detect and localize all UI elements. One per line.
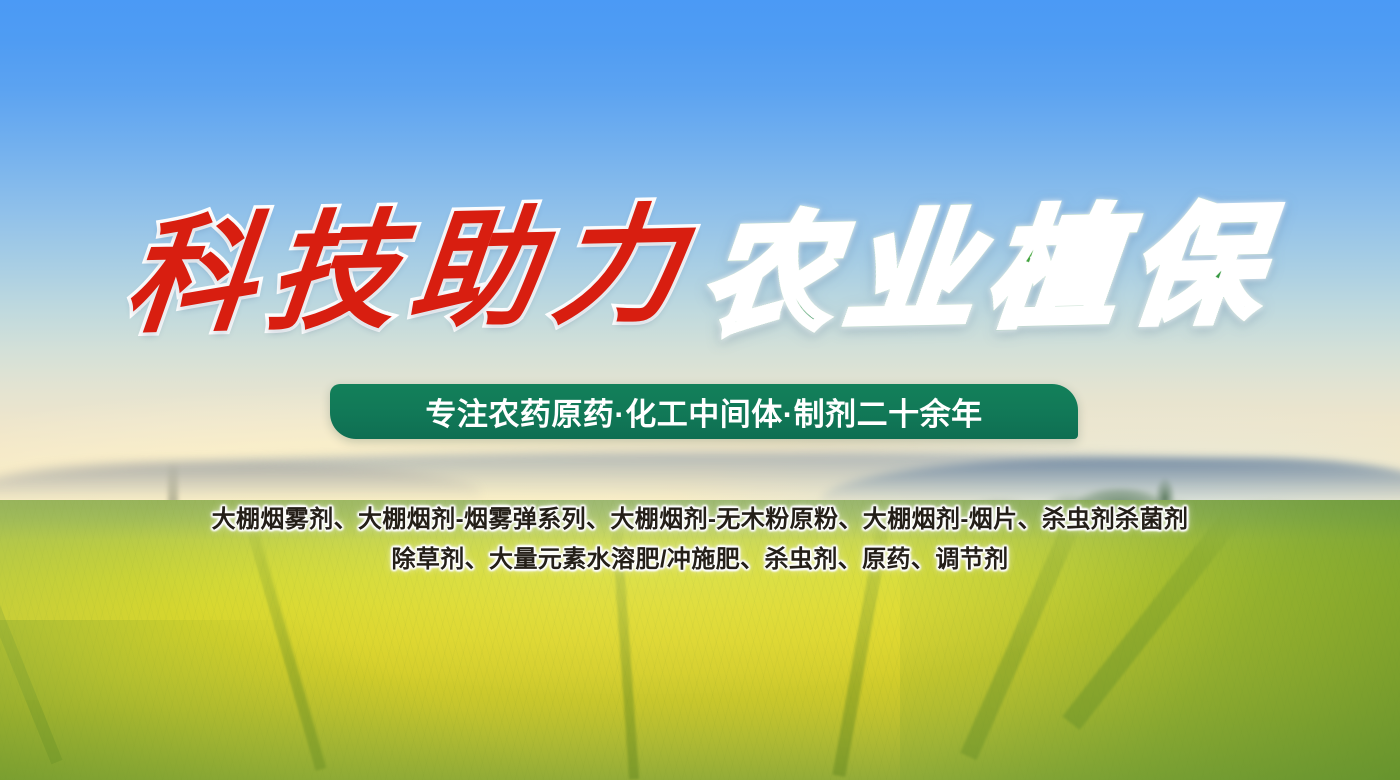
product-list: 大棚烟雾剂、大棚烟剂-烟雾弹系列、大棚烟剂-无木粉原粉、大棚烟剂-烟片、杀虫剂杀… (0, 500, 1400, 580)
banner-headline: 科技助力农业植保 (0, 196, 1400, 346)
hero-banner: 科技助力农业植保 专注农药原药·化工中间体·制剂二十余年 大棚烟雾剂、大棚烟剂-… (0, 0, 1400, 780)
headline-part-technology: 科技助力 (119, 190, 704, 352)
product-line-2: 除草剂、大量元素水溶肥/冲施肥、杀虫剂、原药、调节剂 (0, 540, 1400, 580)
poplar-tree-icon (168, 462, 178, 504)
headline-part-agriculture: 农业植保 (697, 190, 1282, 352)
subtitle-text: 专注农药原药·化工中间体·制剂二十余年 (425, 389, 982, 434)
subtitle-bar: 专注农药原药·化工中间体·制剂二十余年 (330, 384, 1078, 439)
product-line-1: 大棚烟雾剂、大棚烟剂-烟雾弹系列、大棚烟剂-无木粉原粉、大棚烟剂-烟片、杀虫剂杀… (0, 500, 1400, 540)
